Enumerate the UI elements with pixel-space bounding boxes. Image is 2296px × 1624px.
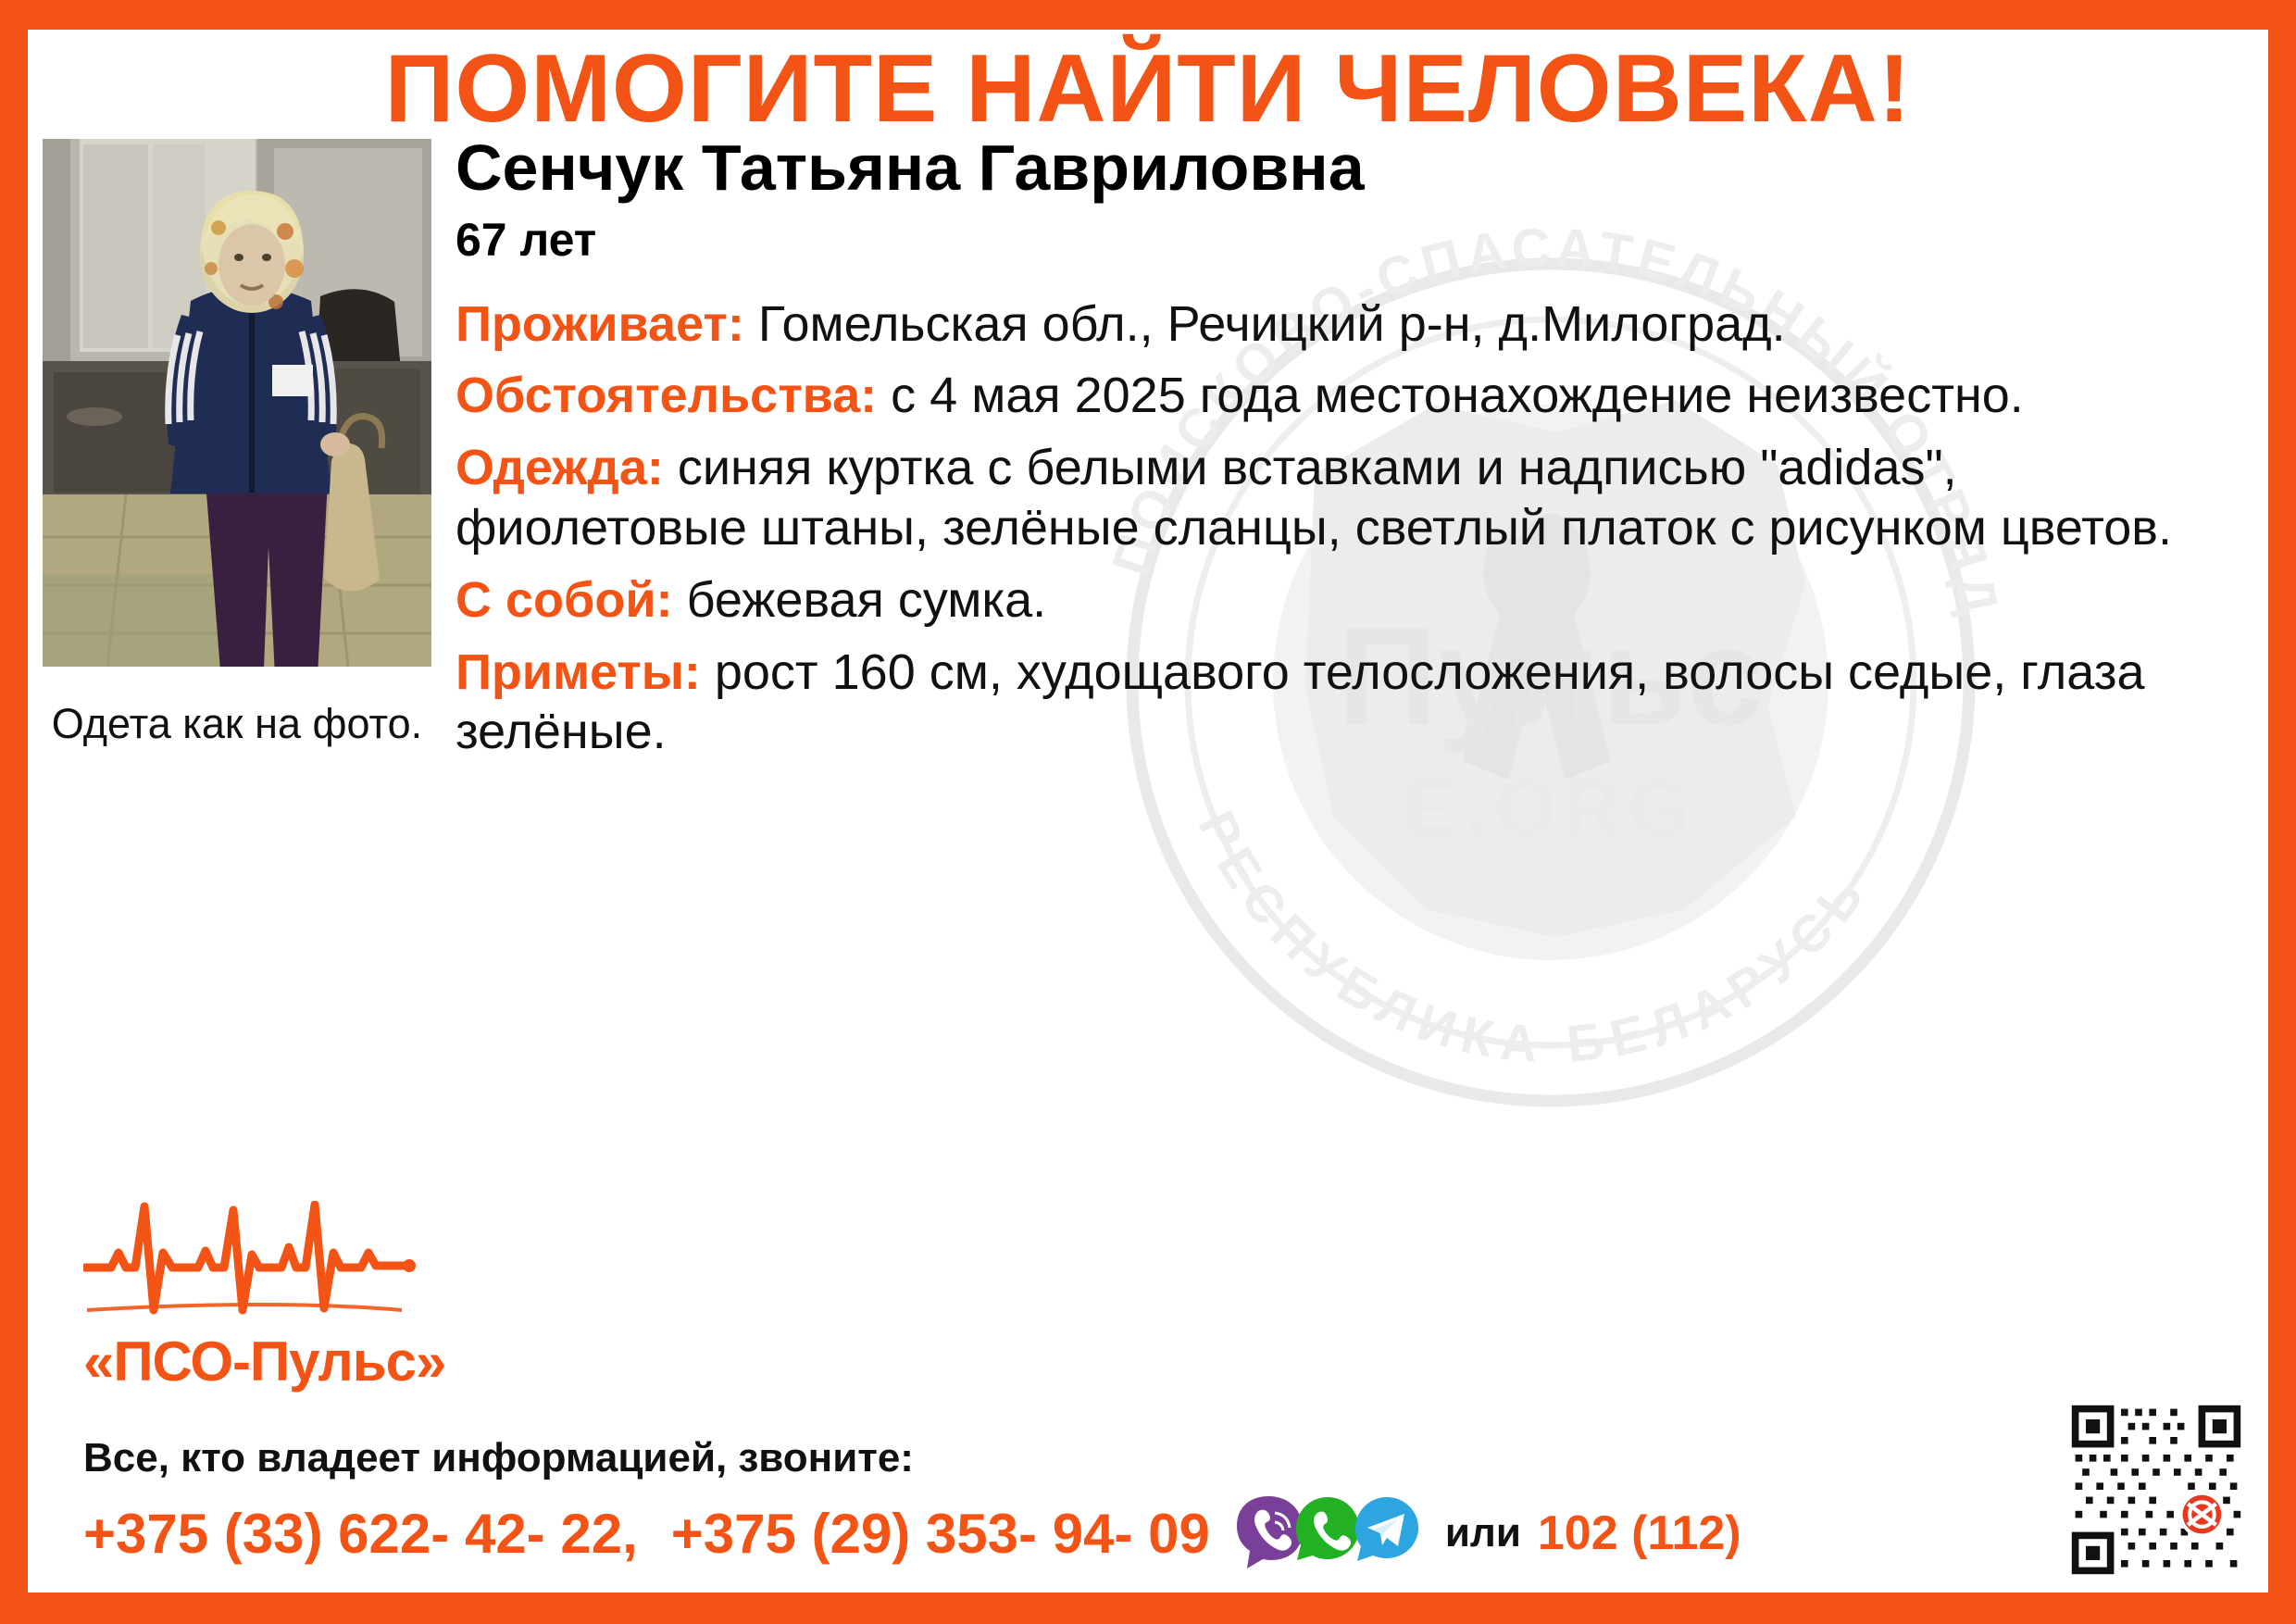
emergency-number[interactable]: 102 (112) — [1538, 1505, 1741, 1561]
field-circumstances: Обстоятельства: с 4 мая 2025 года местон… — [455, 366, 2247, 426]
field-value: рост 160 см, худощавого телосложения, во… — [455, 644, 2145, 760]
viber-icon — [1234, 1494, 1303, 1572]
phones-row: +375 (33) 622- 42- 22, +375 (29) 353- 94… — [83, 1494, 2213, 1572]
qr-code[interactable] — [2068, 1402, 2244, 1578]
phone-number-primary[interactable]: +375 (33) 622- 42- 22, — [83, 1502, 638, 1566]
poster-sheet: ПОИСКОВО-СПАСАТЕЛЬНЫЙ ОТРЯД РЕСПУБЛИКА Б… — [28, 30, 2268, 1593]
field-label: Одежда: — [455, 440, 664, 495]
field-label: Приметы: — [455, 644, 701, 700]
field-residence: Проживает: Гомельская обл., Речицкий р-н… — [455, 294, 2247, 355]
field-value: бежевая сумка. — [687, 572, 1047, 628]
field-belongings: С собой: бежевая сумка. — [455, 570, 2247, 631]
call-prompt: Все, кто владеет информацией, звоните: — [83, 1435, 2213, 1481]
organization-name: «ПСО-Пульс» — [83, 1330, 472, 1393]
field-value: с 4 мая 2025 года местонахождение неизве… — [891, 368, 2024, 423]
fields-list: Проживает: Гомельская обл., Речицкий р-н… — [455, 294, 2247, 763]
field-description: Приметы: рост 160 см, худощавого телосло… — [455, 643, 2247, 763]
field-label: Проживает: — [455, 296, 744, 352]
photo-caption: Одета как на фото. — [43, 700, 431, 748]
svg-text:РЕСПУБЛИКА БЕЛАРУСЬ: РЕСПУБЛИКА БЕЛАРУСЬ — [1187, 803, 1879, 1074]
photo-column: Одета как на фото. — [43, 139, 431, 748]
or-label: или — [1445, 1510, 1521, 1556]
missing-person-photo — [43, 139, 431, 667]
phone-number-secondary[interactable]: +375 (29) 353- 94- 09 — [671, 1502, 1210, 1566]
poster-headline: ПОМОГИТЕ НАЙТИ ЧЕЛОВЕКА! — [28, 39, 2268, 140]
messenger-icons — [1234, 1494, 1421, 1572]
whatsapp-icon — [1293, 1494, 1362, 1572]
field-value: синяя куртка с белыми вставками и надпис… — [455, 440, 2172, 556]
field-label: Обстоятельства: — [455, 368, 877, 423]
details-column: Сенчук Татьяна Гавриловна 67 лет Прожива… — [455, 133, 2247, 774]
person-age: 67 лет — [455, 213, 2247, 267]
svg-text:E.ORG: E.ORG — [1404, 764, 1697, 853]
organization-logo: «ПСО-Пульс» — [83, 1201, 472, 1393]
heartbeat-ecg-icon — [83, 1201, 472, 1321]
poster-root: ПОИСКОВО-СПАСАТЕЛЬНЫЙ ОТРЯД РЕСПУБЛИКА Б… — [0, 0, 2296, 1624]
field-label: С собой: — [455, 572, 673, 628]
footer-contacts: Все, кто владеет информацией, звоните: +… — [83, 1435, 2213, 1572]
telegram-icon — [1353, 1494, 1421, 1572]
field-value: Гомельская обл., Речицкий р-н, д.Милогра… — [758, 296, 1786, 352]
field-clothing: Одежда: синяя куртка с белыми вставками … — [455, 438, 2247, 558]
person-name: Сенчук Татьяна Гавриловна — [455, 133, 2247, 204]
